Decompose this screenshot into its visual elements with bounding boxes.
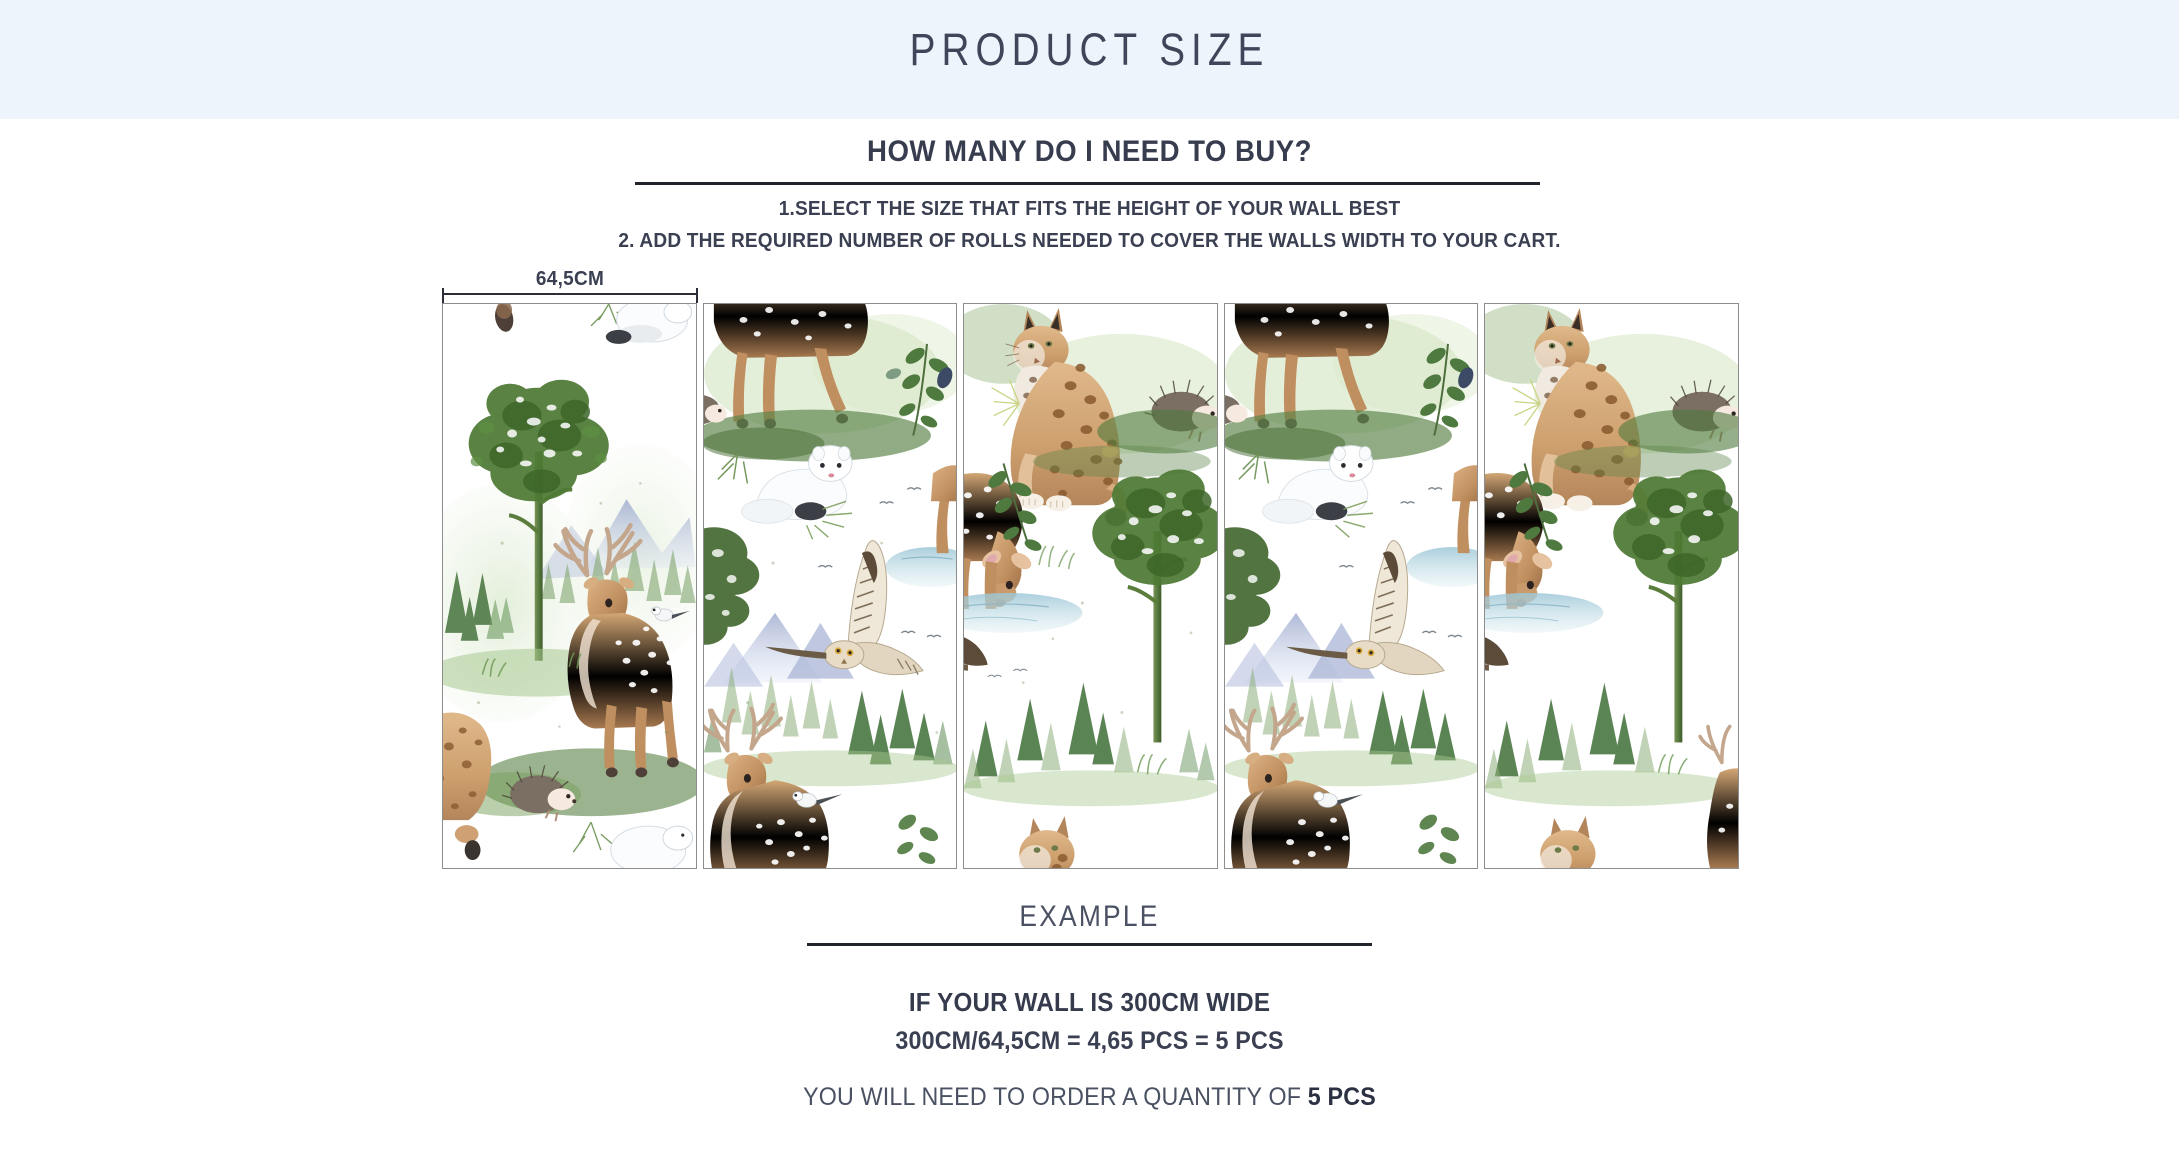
page-title: PRODUCT SIZE [153, 24, 2027, 76]
roll-3-artwork [964, 304, 1217, 868]
wallpaper-roll-strip [442, 303, 1739, 869]
example-order-prefix: YOU WILL NEED TO ORDER A QUANTITY OF [803, 1083, 1308, 1111]
roll-1-artwork [443, 304, 696, 868]
dimension-label: 64,5CM [448, 268, 691, 291]
example-order-quantity: YOU WILL NEED TO ORDER A QUANTITY OF 5 P… [76, 1083, 2102, 1112]
example-wall-width: IF YOUR WALL IS 300CM WIDE [76, 987, 2102, 1018]
wallpaper-roll-3[interactable] [963, 303, 1218, 869]
roll-4-artwork [1225, 304, 1478, 868]
example-calculation: 300CM/64,5CM = 4,65 PCS = 5 PCS [76, 1027, 2102, 1056]
example-divider [807, 943, 1372, 946]
instruction-step-2: 2. ADD THE REQUIRED NUMBER OF ROLLS NEED… [76, 229, 2102, 253]
wallpaper-roll-4[interactable] [1224, 303, 1479, 869]
example-section: EXAMPLE IF YOUR WALL IS 300CM WIDE 300CM… [0, 900, 2179, 934]
example-title: EXAMPLE [131, 900, 2049, 934]
header-band: PRODUCT SIZE [0, 0, 2179, 119]
dimension-line [442, 293, 698, 295]
roll-5-artwork [1485, 304, 1738, 868]
roll-width-dimension: 64,5CM [442, 268, 698, 304]
instruction-step-1: 1.SELECT THE SIZE THAT FITS THE HEIGHT O… [76, 197, 2102, 221]
instructions-divider [635, 182, 1540, 185]
instructions-heading: HOW MANY DO I NEED TO BUY? [87, 135, 2092, 169]
roll-2-artwork [704, 304, 957, 868]
example-order-value: 5 PCS [1308, 1083, 1376, 1111]
wallpaper-roll-1[interactable] [442, 303, 697, 869]
instructions-section: HOW MANY DO I NEED TO BUY? 1.SELECT THE … [0, 135, 2179, 169]
wallpaper-roll-2[interactable] [703, 303, 958, 869]
wallpaper-roll-5[interactable] [1484, 303, 1739, 869]
